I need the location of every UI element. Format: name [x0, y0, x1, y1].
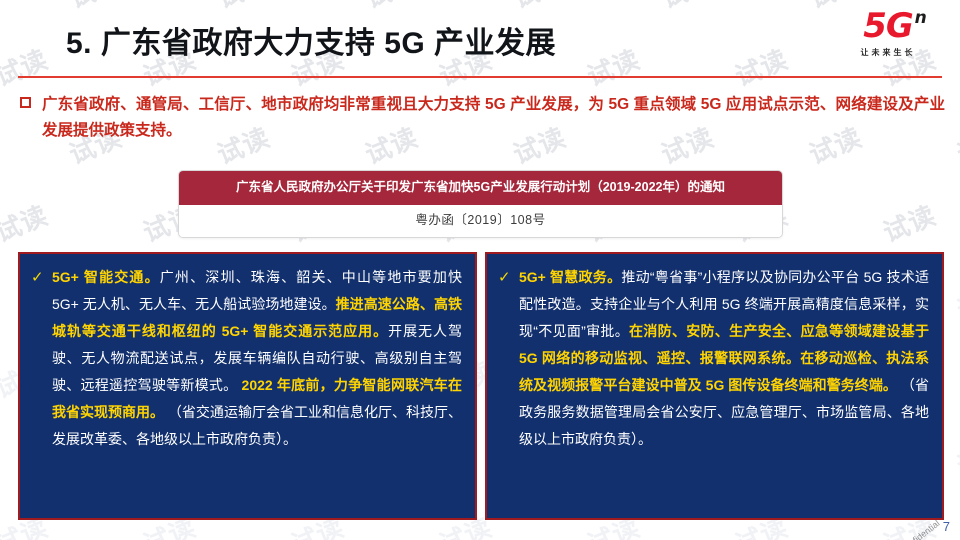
panel-right-body: ✓ 5G+ 智慧政务。推动“粤省事”小程序以及协同办公平台 5G 技术适配性改造… [498, 264, 929, 453]
page-number: 7 [943, 519, 950, 534]
panel-left-body: ✓ 5G+ 智能交通。广州、深圳、珠海、韶关、中山等地市要加快 5G+ 无人机、… [31, 264, 462, 453]
header-divider [18, 76, 942, 78]
lead-paragraph-text: 广东省政府、通管局、工信厅、地市政府均非常重视且大力支持 5G 产业发展，为 5… [42, 92, 945, 144]
document-card-number: 粤办函〔2019〕108号 [179, 205, 782, 237]
logo-mark-text: 5G [863, 6, 913, 46]
confidential-watermark: Confidential [898, 518, 942, 540]
logo-5g-mark: 5Gn [863, 6, 913, 46]
content-panel-right: ✓ 5G+ 智慧政务。推动“粤省事”小程序以及协同办公平台 5G 技术适配性改造… [485, 252, 944, 520]
logo-superscript-n: n [915, 0, 926, 38]
text-run-0: 5G+ 智能交通。 [52, 269, 160, 285]
logo-tagline: 让未来生长 [834, 47, 942, 58]
content-panel-left: ✓ 5G+ 智能交通。广州、深圳、珠海、韶关、中山等地市要加快 5G+ 无人机、… [18, 252, 477, 520]
brand-logo: 5Gn 让未来生长 [834, 6, 942, 72]
panel-left-text: 5G+ 智能交通。广州、深圳、珠海、韶关、中山等地市要加快 5G+ 无人机、无人… [52, 264, 462, 453]
check-icon: ✓ [31, 264, 44, 291]
slide-header: 5. 广东省政府大力支持 5G 产业发展 5Gn 让未来生长 [0, 0, 960, 82]
slide-root: 5. 广东省政府大力支持 5G 产业发展 5Gn 让未来生长 广东省政府、通管局… [0, 0, 960, 540]
document-card-heading: 广东省人民政府办公厅关于印发广东省加快5G产业发展行动计划（2019-2022年… [179, 171, 782, 205]
check-icon: ✓ [498, 264, 511, 291]
page-title: 5. 广东省政府大力支持 5G 产业发展 [66, 18, 556, 62]
text-run-0: 5G+ 智慧政务。 [519, 269, 621, 285]
panel-right-text: 5G+ 智慧政务。推动“粤省事”小程序以及协同办公平台 5G 技术适配性改造。支… [519, 264, 929, 453]
lead-paragraph-block: 广东省政府、通管局、工信厅、地市政府均非常重视且大力支持 5G 产业发展，为 5… [20, 92, 945, 144]
hollow-square-bullet-icon [20, 97, 31, 108]
document-title-card: 广东省人民政府办公厅关于印发广东省加快5G产业发展行动计划（2019-2022年… [178, 170, 783, 238]
